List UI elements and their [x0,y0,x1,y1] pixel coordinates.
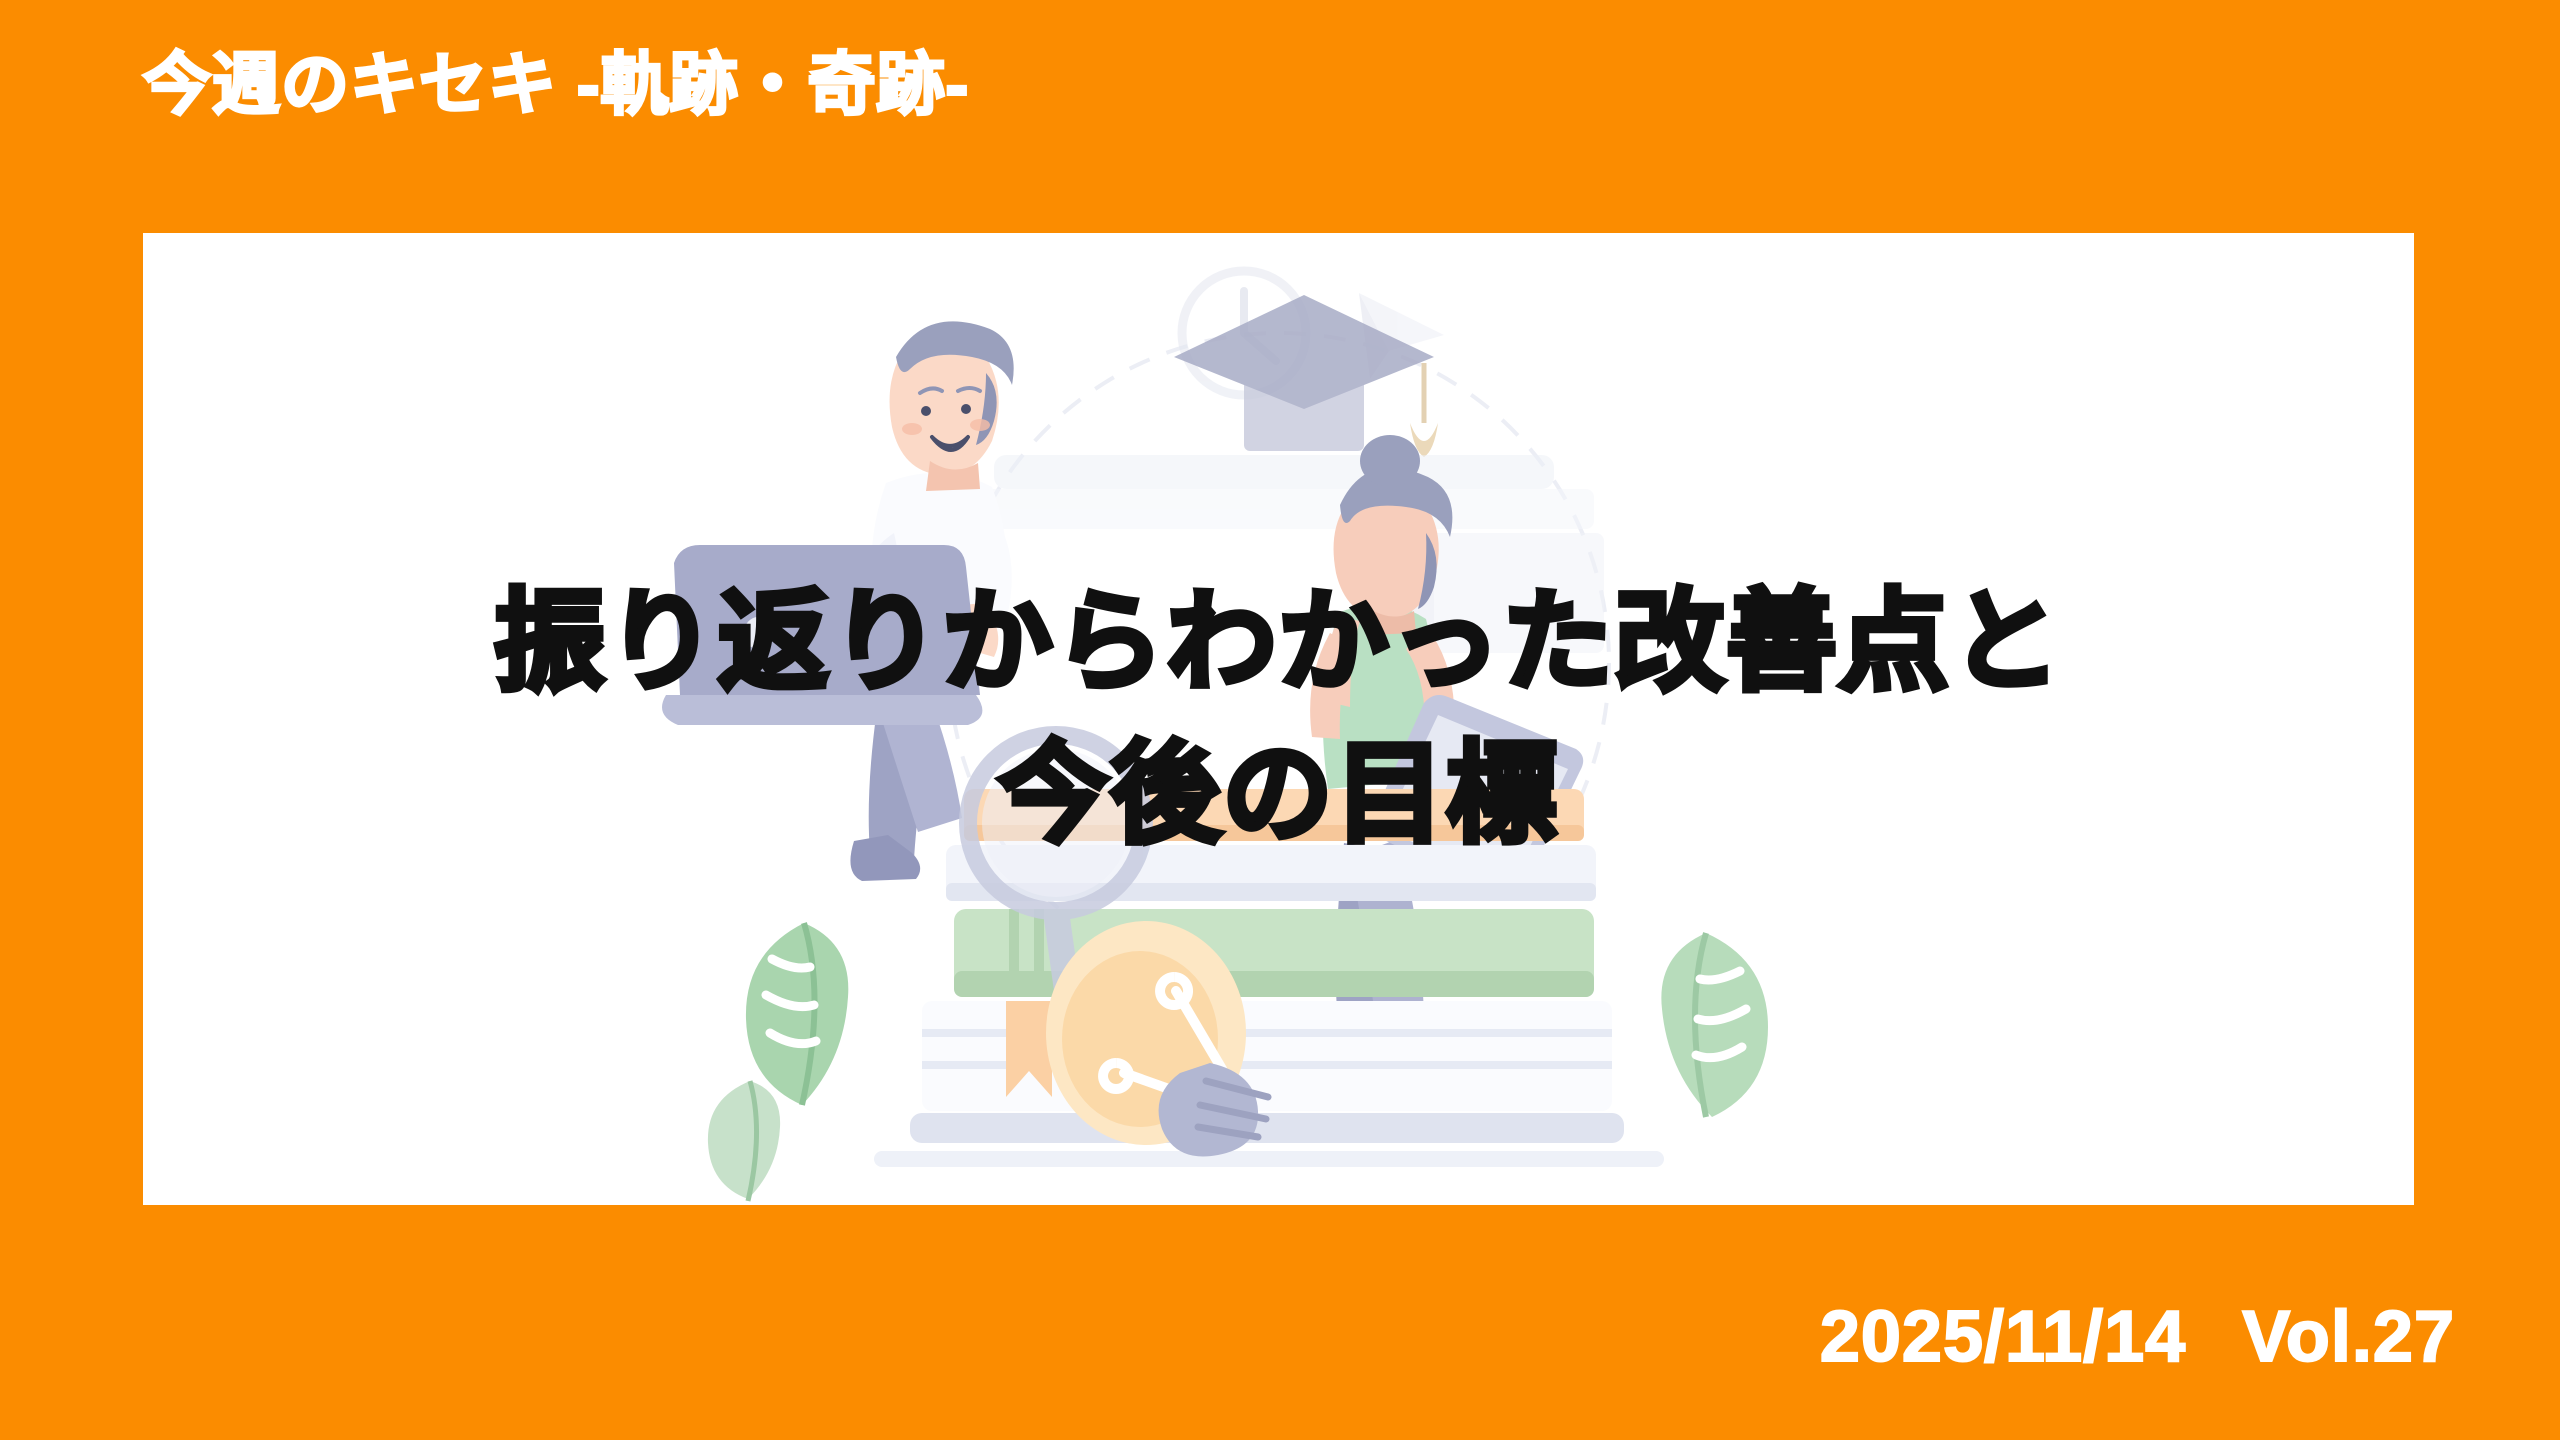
content-card: 振り返りからわかった改善点と 今後の目標 [143,233,2414,1205]
footer: 2025/11/14 Vol.27 [1820,1296,2455,1378]
monstera-leaves-right-icon [1661,933,1768,1117]
study-illustration [654,233,1904,1205]
header-title: 今週のキセキ -軌跡・奇跡- [143,48,969,123]
man-with-laptop-illustration [662,321,1014,881]
footer-volume: Vol.27 [2242,1296,2455,1378]
footer-date: 2025/11/14 [1820,1296,2186,1378]
thumbnail-canvas: 今週のキセキ -軌跡・奇跡- [0,0,2560,1440]
monstera-leaves-icon [707,923,847,1201]
